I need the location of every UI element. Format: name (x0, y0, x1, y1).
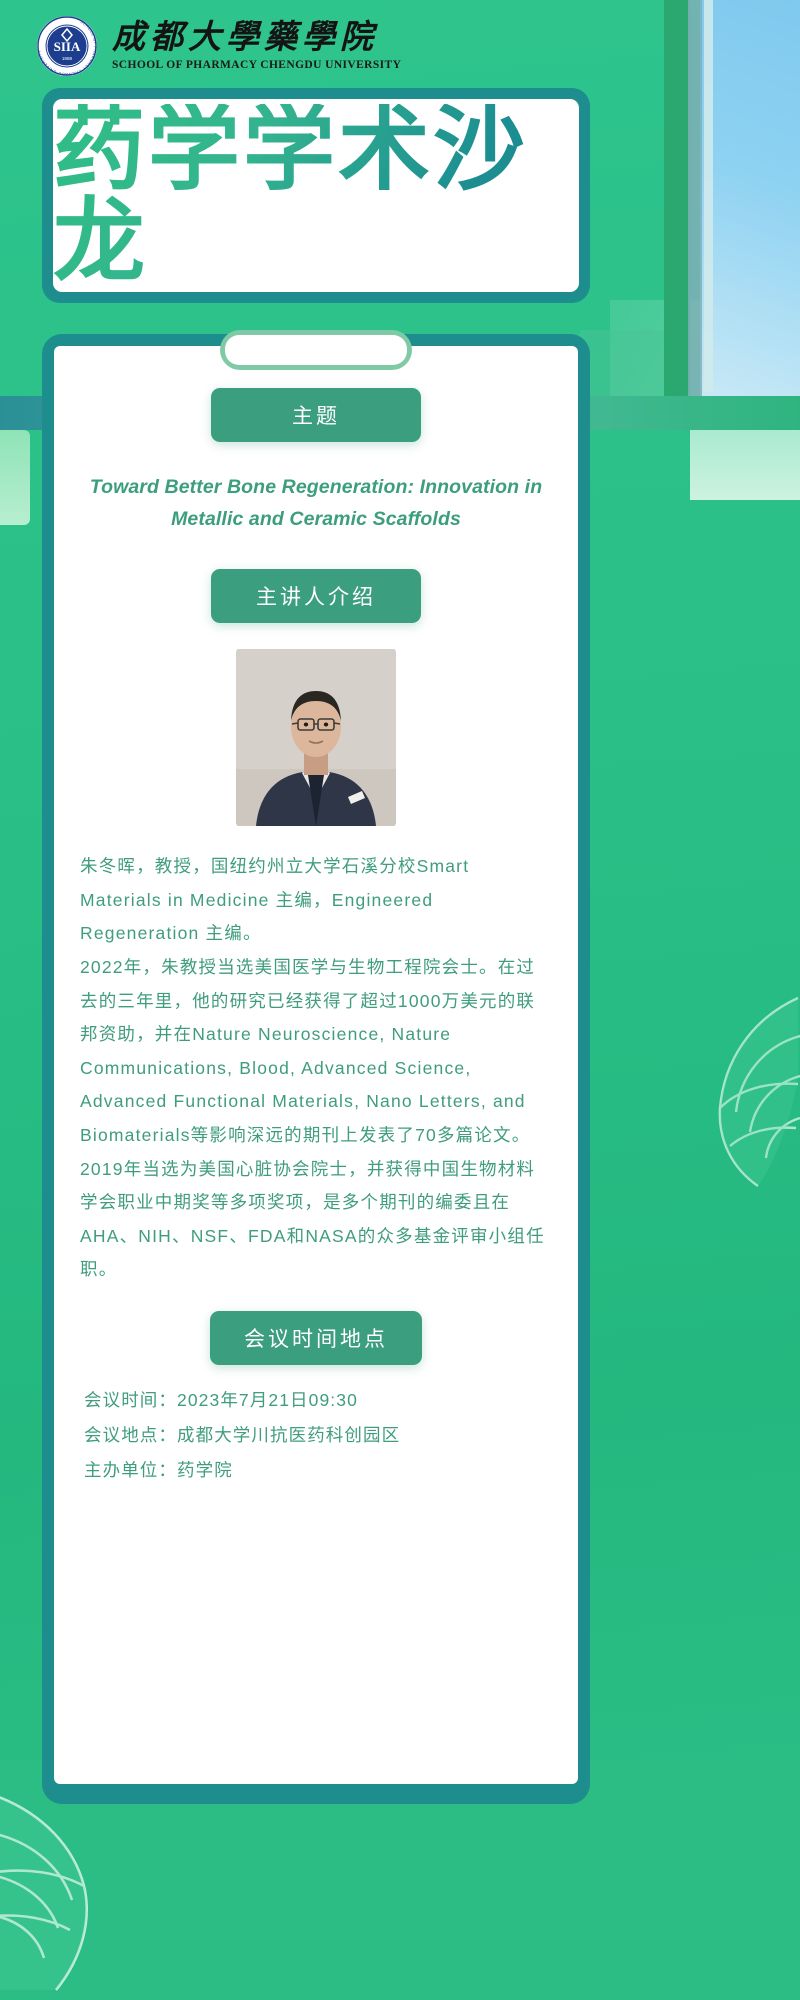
section-badge-topic: 主题 (211, 388, 421, 442)
meeting-organizer: 主办单位：药学院 (84, 1453, 552, 1488)
background-strip-gray (688, 0, 702, 396)
tab-ornament (220, 330, 412, 370)
page-title: 药学学术沙龙 (53, 104, 579, 288)
background-mint-right (690, 430, 800, 500)
meeting-time: 会议时间：2023年7月21日09:30 (84, 1383, 552, 1418)
svg-text:SIIA: SIIA (54, 39, 81, 54)
speaker-bio-paragraph: 朱冬晖，教授，国纽约州立大学石溪分校Smart Materials in Med… (80, 850, 552, 951)
meeting-block: 会议时间地点 会议时间：2023年7月21日09:30 会议地点：成都大学川抗医… (80, 1311, 552, 1488)
topic-english-title: Toward Better Bone Regeneration: Innovat… (84, 472, 548, 535)
section-badge-meeting: 会议时间地点 (210, 1311, 422, 1365)
meeting-location: 会议地点：成都大学川抗医药科创园区 (84, 1418, 552, 1453)
background-mint-left (0, 430, 30, 525)
university-name-cn: 成都大學藥學院 (112, 21, 401, 56)
university-name-en: SCHOOL OF PHARMACY CHENGDU UNIVERSITY (112, 59, 401, 71)
content-card: 主题 Toward Better Bone Regeneration: Inno… (42, 334, 590, 1804)
content-card-inner: 主题 Toward Better Bone Regeneration: Inno… (54, 346, 578, 1784)
poster-root: SIIA 1988 SCHOOL OF PHARMACY CHENGDU UNI… (0, 0, 800, 2000)
university-seal-logo: SIIA 1988 SCHOOL OF PHARMACY CHENGDU UNI… (36, 15, 98, 77)
title-card: 药学学术沙龙 (42, 88, 590, 303)
meeting-details: 会议时间：2023年7月21日09:30 会议地点：成都大学川抗医药科创园区 主… (80, 1383, 552, 1488)
speaker-portrait (236, 649, 396, 826)
background-blue-panel (700, 0, 800, 400)
svg-text:1988: 1988 (62, 56, 73, 61)
section-badge-speaker: 主讲人介绍 (211, 569, 421, 623)
leaf-decoration-right (680, 990, 800, 1220)
university-name-block: 成都大學藥學院 SCHOOL OF PHARMACY CHENGDU UNIVE… (112, 21, 401, 72)
tab-ornament-inner (225, 335, 407, 365)
speaker-bio: 朱冬晖，教授，国纽约州立大学石溪分校Smart Materials in Med… (80, 850, 552, 1287)
background-strip-light (704, 0, 713, 392)
speaker-bio-paragraph: 2022年，朱教授当选美国医学与生物工程院会士。在过去的三年里，他的研究已经获得… (80, 951, 552, 1287)
speaker-photo-wrap (80, 649, 552, 826)
header-bar: SIIA 1988 SCHOOL OF PHARMACY CHENGDU UNI… (0, 0, 680, 92)
leaf-decoration-bottom-left (0, 1790, 180, 2000)
title-card-inner: 药学学术沙龙 (53, 99, 579, 292)
